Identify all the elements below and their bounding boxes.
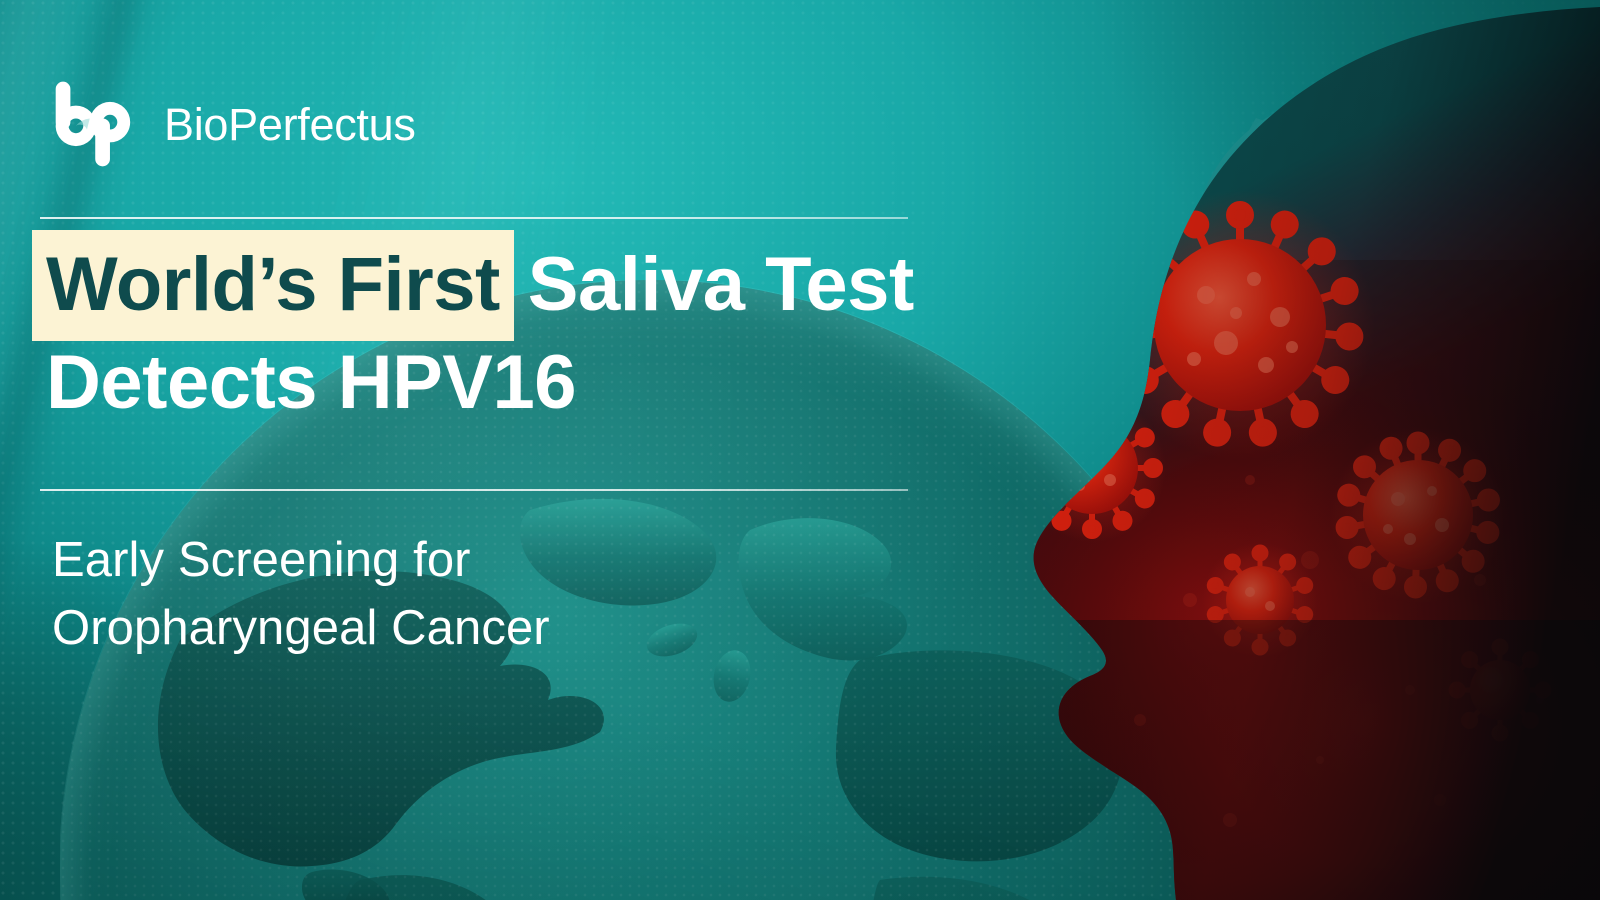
headline-line-1: World’s FirstSaliva Test	[46, 247, 966, 323]
brand-name: BioPerfectus	[164, 102, 416, 147]
hero-illustration	[940, 0, 1600, 900]
divider-bottom	[40, 489, 908, 491]
subheadline: Early Screening for Oropharyngeal Cancer	[52, 527, 812, 662]
headline-line-2: Detects HPV16	[46, 345, 966, 421]
subheadline-line-2: Oropharyngeal Cancer	[52, 595, 812, 663]
brand-logo[interactable]: BioPerfectus	[52, 78, 416, 170]
bp-monogram-logo-icon	[52, 78, 144, 170]
headline-line-1-rest: Saliva Test	[528, 242, 914, 327]
headline: World’s FirstSaliva Test Detects HPV16	[46, 247, 966, 421]
divider-top	[40, 217, 908, 219]
headline-highlight: World’s First	[32, 230, 514, 341]
content-column: BioPerfectus World’s FirstSaliva Test De…	[0, 0, 1000, 900]
head-profile-silhouette-icon	[940, 0, 1600, 900]
promotional-banner: BioPerfectus World’s FirstSaliva Test De…	[0, 0, 1600, 900]
subheadline-line-1: Early Screening for	[52, 527, 812, 595]
